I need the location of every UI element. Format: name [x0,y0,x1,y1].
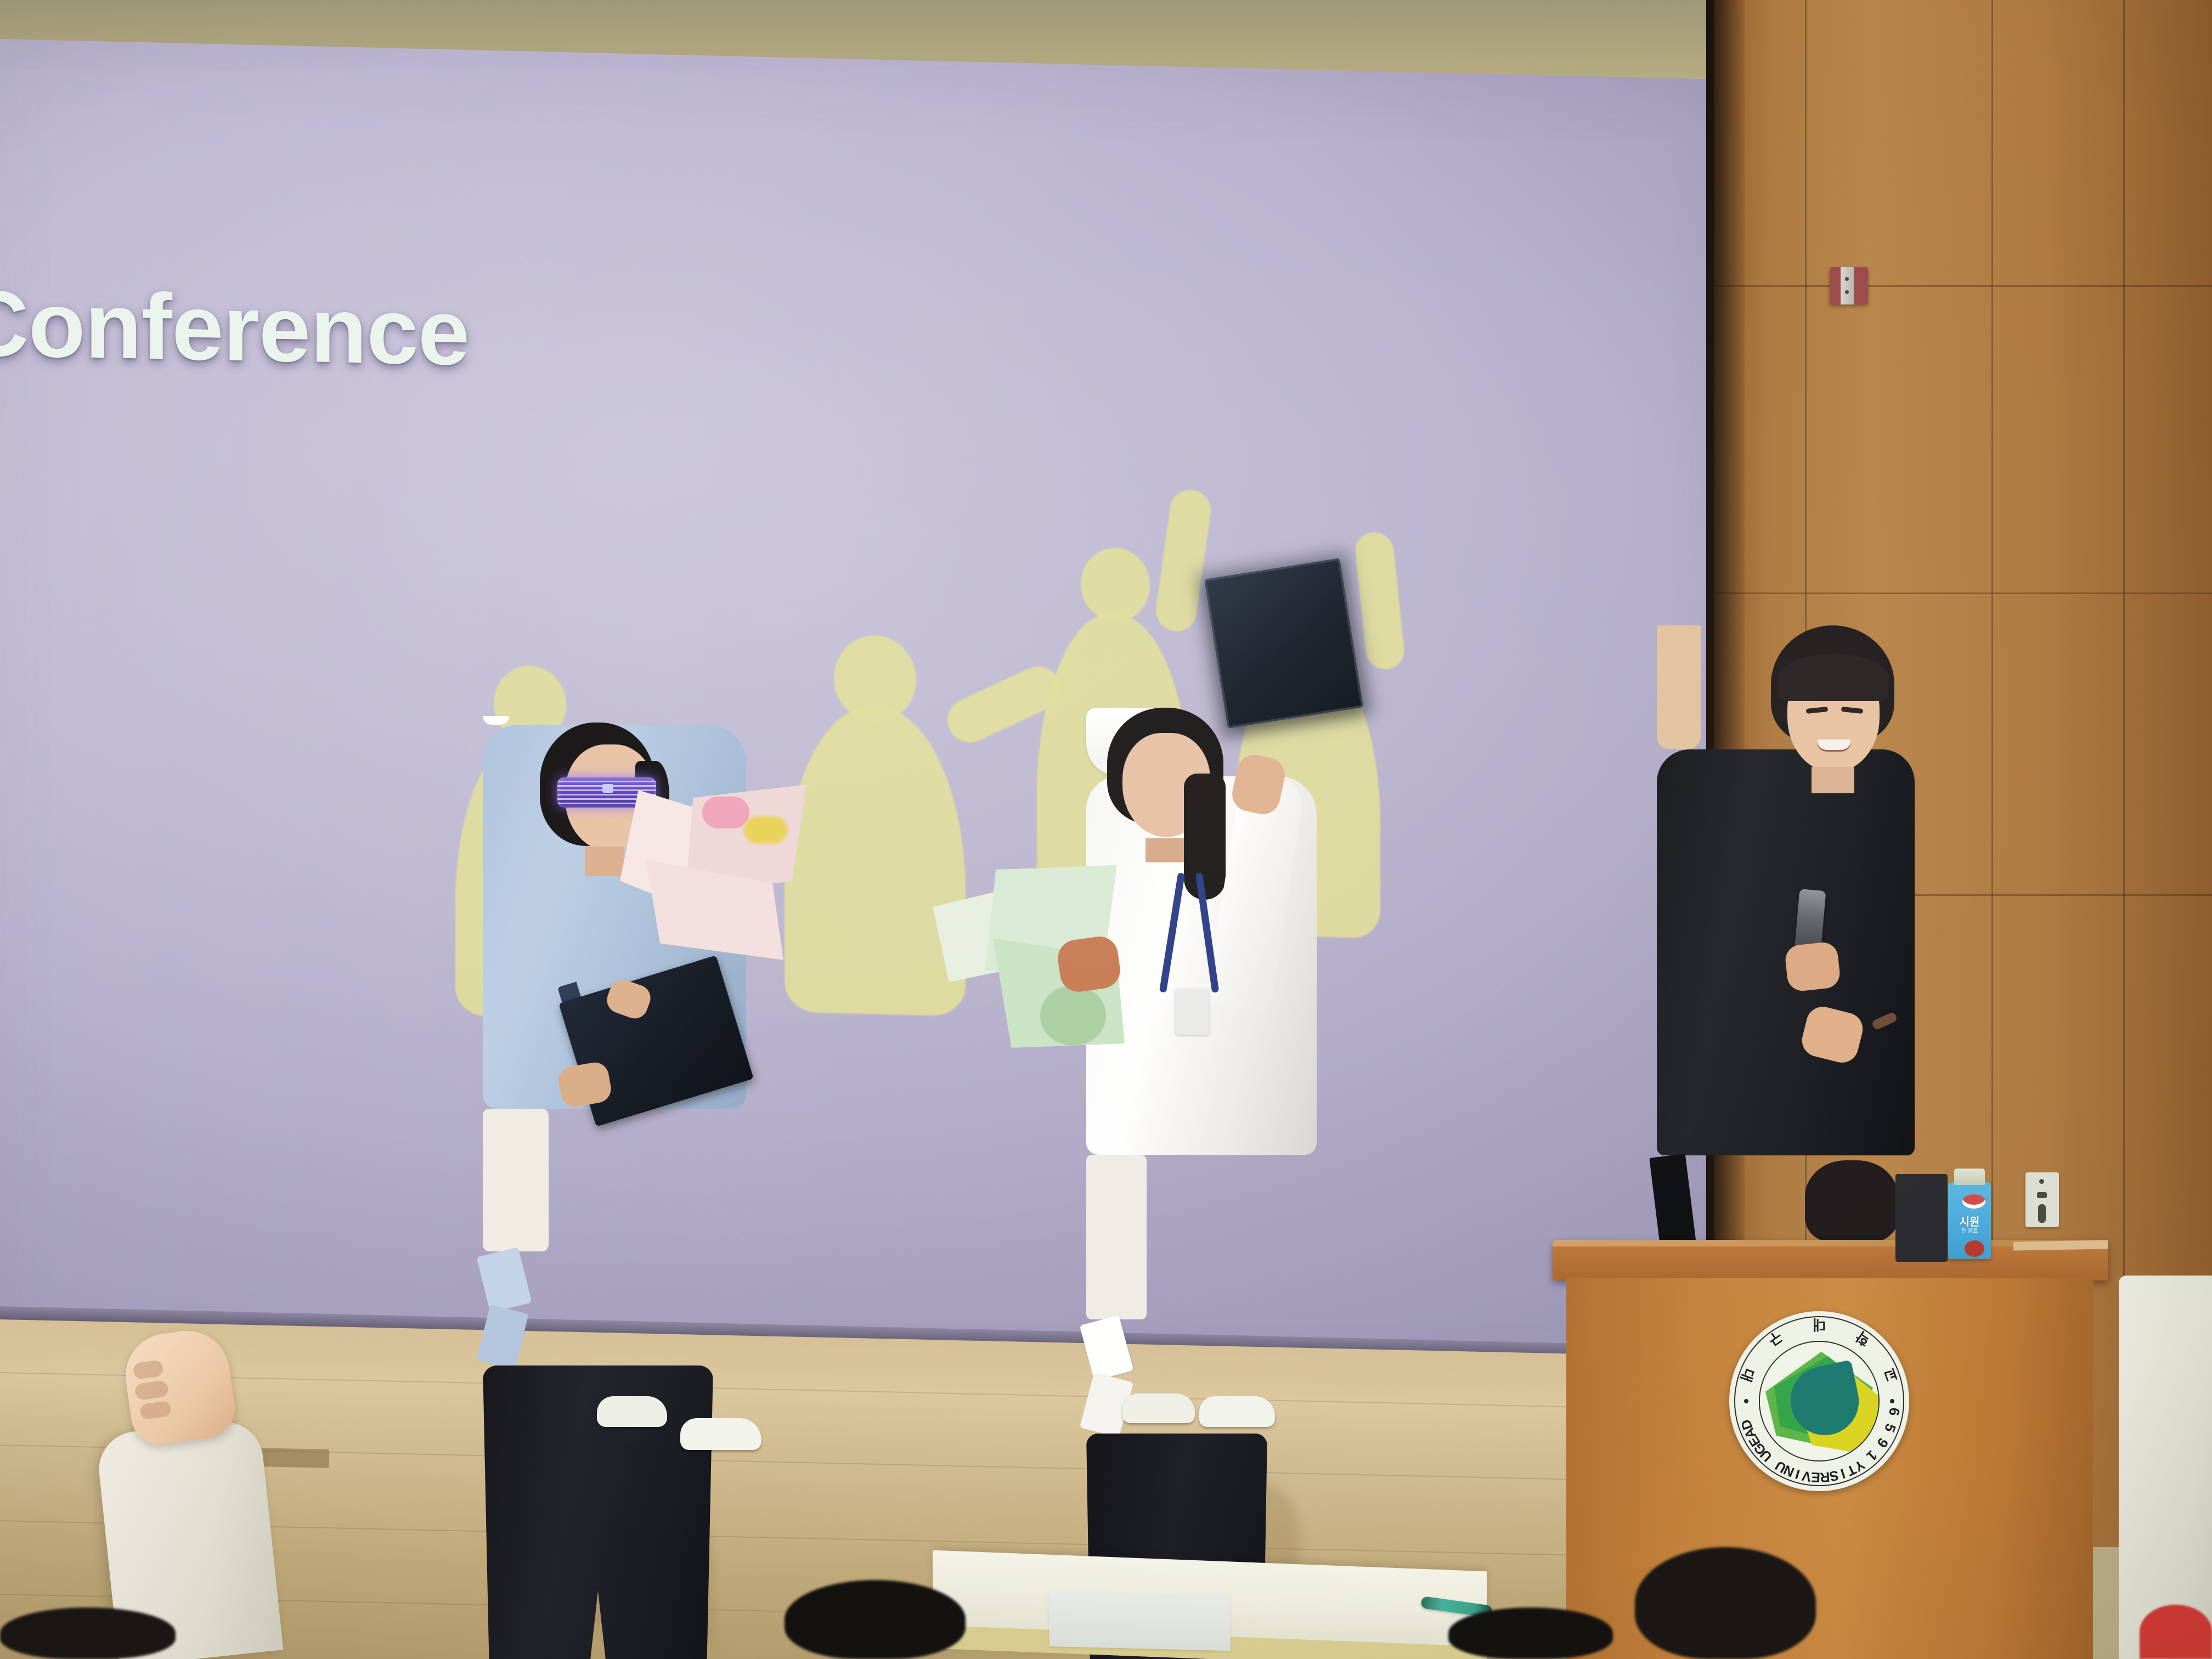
knuckle [139,1401,172,1420]
emblem-core-graphic [1760,1342,1878,1460]
fire-alarm-plate [1841,267,1854,304]
podium-shelf [2013,1240,2108,1250]
hair-tail [1184,774,1226,900]
seated-person-hair-behind-podium [1805,1160,1898,1243]
shoe-right [1199,1396,1275,1427]
wood-seam [1714,285,2212,287]
collar-left [477,1247,532,1313]
black-blazer [1657,749,1915,1155]
audience-red-item [2140,1605,2212,1659]
id-badge [1175,989,1209,1035]
daegu-university-emblem: 대구대학교 DAEGU UNIVERSITY 1956 [1729,1311,1909,1491]
mint-bouquet [933,856,1152,1053]
inner-top [1657,625,1701,749]
knuckle [134,1380,170,1401]
neck [1812,767,1854,793]
shoe-left [1122,1393,1195,1423]
wall-jack-plate [2025,1172,2059,1227]
wood-seam [1714,592,2212,594]
knuckle [132,1359,164,1380]
slide-silhouette-head-3 [1081,547,1150,622]
projection-screen [0,38,1734,1396]
bouquet-flower [744,816,788,844]
shoe-left [597,1396,667,1427]
award-folder-rim [1204,558,1363,729]
mouth [483,716,509,725]
side-white-panel [2119,1276,2212,1659]
audience-head [785,1580,966,1659]
bottle-badge [1962,1194,1985,1209]
paper-sheet [1048,1592,1231,1651]
inner-top [483,1109,549,1251]
student-award-recipient-right [1086,708,1328,1487]
collar-right [476,1305,528,1369]
emblem-separator-dot-left [1744,1399,1748,1403]
beverage-bottle: 시원 한 음료 [1948,1182,1991,1259]
jack-port [2039,1179,2044,1184]
mouth [1817,740,1851,752]
bottle-sublabel: 한 음료 [1948,1226,1991,1234]
bouquet-flower [1040,985,1106,1046]
shoe-right [680,1418,761,1450]
pink-bouquet [620,785,817,966]
emblem-separator-dot-right [1890,1399,1894,1403]
glasses-bridge [602,784,613,793]
bouquet-flower [702,797,749,828]
jack-port [2037,1192,2047,1198]
neck [585,847,624,876]
audience-head [0,1607,176,1659]
bottle-cap [1954,1169,1985,1185]
bottle-fruit-graphic [1965,1240,1984,1257]
shirt-opening [1086,1155,1147,1319]
jack-port [2038,1204,2046,1223]
hand-holding-microphone [1784,941,1841,992]
collar-left [1080,1315,1133,1381]
fire-alarm-dot [1845,290,1849,294]
audience-head [1635,1547,1816,1659]
bottle-backdrop [1895,1174,1948,1262]
audience-head [1448,1607,1613,1659]
photo-scene: Conference 8 [0,0,2212,1659]
slide-headline: Conference [0,269,469,387]
fire-alarm-dot [1845,277,1849,281]
hair-fringe [1779,654,1888,701]
